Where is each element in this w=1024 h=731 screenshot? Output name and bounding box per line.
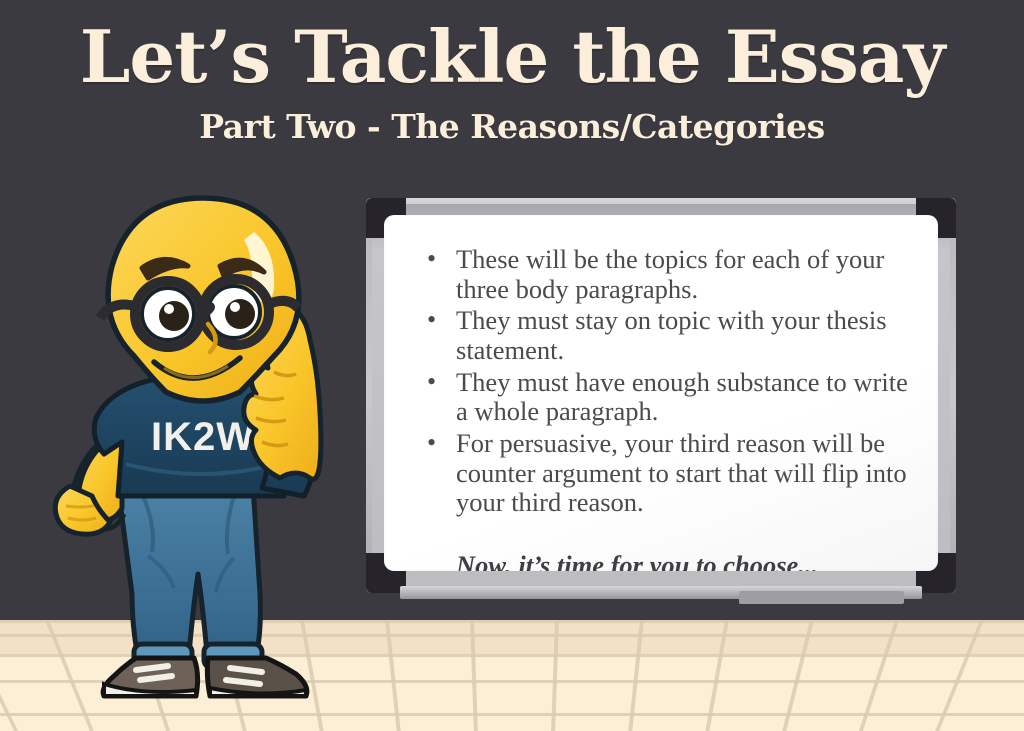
shirt-logo-text: IK2W xyxy=(151,415,255,459)
whiteboard: These will be the topics for each of you… xyxy=(366,198,956,593)
eraser xyxy=(739,591,904,604)
page-subtitle: Part Two - The Reasons/Categories xyxy=(0,107,1024,146)
list-item: They must stay on topic with your thesis… xyxy=(422,306,912,365)
whiteboard-content: These will be the topics for each of you… xyxy=(422,245,912,571)
floor-gridline-h xyxy=(0,713,1024,716)
list-item: They must have enough substance to write… xyxy=(422,368,912,427)
list-item: For persuasive, your third reason will b… xyxy=(422,429,912,518)
page-title: Let’s Tackle the Essay xyxy=(0,22,1024,93)
slide-canvas: Let’s Tackle the Essay Part Two - The Re… xyxy=(0,0,1024,731)
lightbulb-character: IK2W xyxy=(48,196,358,696)
whiteboard-surface: These will be the topics for each of you… xyxy=(384,215,938,571)
closing-line: Now, it’s time for you to choose... xyxy=(422,550,912,571)
legs xyxy=(118,486,262,668)
list-item: These will be the topics for each of you… xyxy=(422,245,912,304)
bullet-list: These will be the topics for each of you… xyxy=(422,245,912,518)
title-block: Let’s Tackle the Essay Part Two - The Re… xyxy=(0,22,1024,146)
